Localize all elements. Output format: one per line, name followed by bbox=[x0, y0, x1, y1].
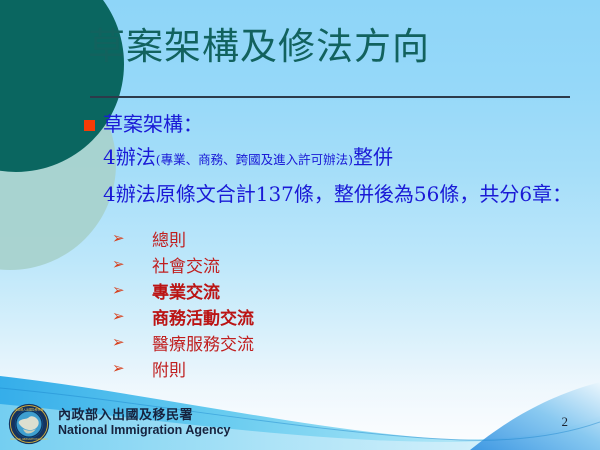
list-item-label: 附則 bbox=[152, 356, 186, 381]
list-item-label: 總則 bbox=[152, 226, 186, 251]
arrow-marker-icon: ➢ bbox=[112, 309, 126, 324]
list-item[interactable]: ➢ 社會交流 bbox=[112, 251, 472, 277]
arrow-marker-icon: ➢ bbox=[112, 257, 126, 272]
lead-bullet-row: 草案架構： bbox=[84, 112, 584, 137]
arrow-marker-icon: ➢ bbox=[112, 283, 126, 298]
agency-name-en: National Immigration Agency bbox=[58, 423, 230, 437]
lead-bullet-text: 草案架構： bbox=[103, 112, 203, 137]
body-line-2: 4辦法原條文合計137條，整併後為56條，共分6章： bbox=[103, 178, 584, 207]
list-item[interactable]: ➢ 總則 bbox=[112, 225, 472, 251]
list-item-label: 醫療服務交流 bbox=[152, 330, 254, 355]
list-item-label: 社會交流 bbox=[152, 252, 220, 277]
body-line-1-parenthetical: (專業、商務、跨國及進入許可辦法) bbox=[156, 152, 353, 167]
page-number: 2 bbox=[562, 414, 569, 430]
body-line-1-after: 整併 bbox=[353, 145, 393, 169]
title-underline-rule bbox=[90, 96, 570, 98]
footer: 內政部入出國及移民署 NATIONAL IMMIGRATION AGENCY 內… bbox=[8, 403, 230, 445]
agency-name-block: 內政部入出國及移民署 National Immigration Agency bbox=[58, 409, 230, 440]
slide-canvas: 草案架構及修法方向 草案架構： 4辦法(專業、商務、跨國及進入許可辦法)整併 4… bbox=[0, 0, 600, 450]
arrow-marker-icon: ➢ bbox=[112, 361, 126, 376]
body-line-1: 4辦法(專業、商務、跨國及進入許可辦法)整併 bbox=[103, 141, 584, 170]
list-item[interactable]: ➢ 附則 bbox=[112, 355, 472, 381]
agency-name-zh: 內政部入出國及移民署 bbox=[58, 409, 230, 424]
slide-title: 草案架構及修法方向 bbox=[88, 26, 430, 69]
list-item[interactable]: ➢ 商務活動交流 bbox=[112, 303, 472, 329]
list-item-label: 專業交流 bbox=[152, 278, 220, 303]
chapter-list: ➢ 總則 ➢ 社會交流 ➢ 專業交流 ➢ 商務活動交流 ➢ 醫療服務交流 ➢ 附… bbox=[112, 225, 472, 381]
agency-emblem-icon: 內政部入出國及移民署 NATIONAL IMMIGRATION AGENCY bbox=[8, 403, 50, 445]
list-item-label: 商務活動交流 bbox=[152, 304, 254, 329]
arrow-marker-icon: ➢ bbox=[112, 231, 126, 246]
square-bullet-icon bbox=[84, 120, 95, 131]
list-item[interactable]: ➢ 專業交流 bbox=[112, 277, 472, 303]
body-content: 草案架構： 4辦法(專業、商務、跨國及進入許可辦法)整併 4辦法原條文合計137… bbox=[84, 112, 584, 207]
svg-text:內政部入出國及移民署: 內政部入出國及移民署 bbox=[14, 407, 43, 412]
list-item[interactable]: ➢ 醫療服務交流 bbox=[112, 329, 472, 355]
arrow-marker-icon: ➢ bbox=[112, 335, 126, 350]
body-line-1-before: 4辦法 bbox=[103, 145, 156, 169]
